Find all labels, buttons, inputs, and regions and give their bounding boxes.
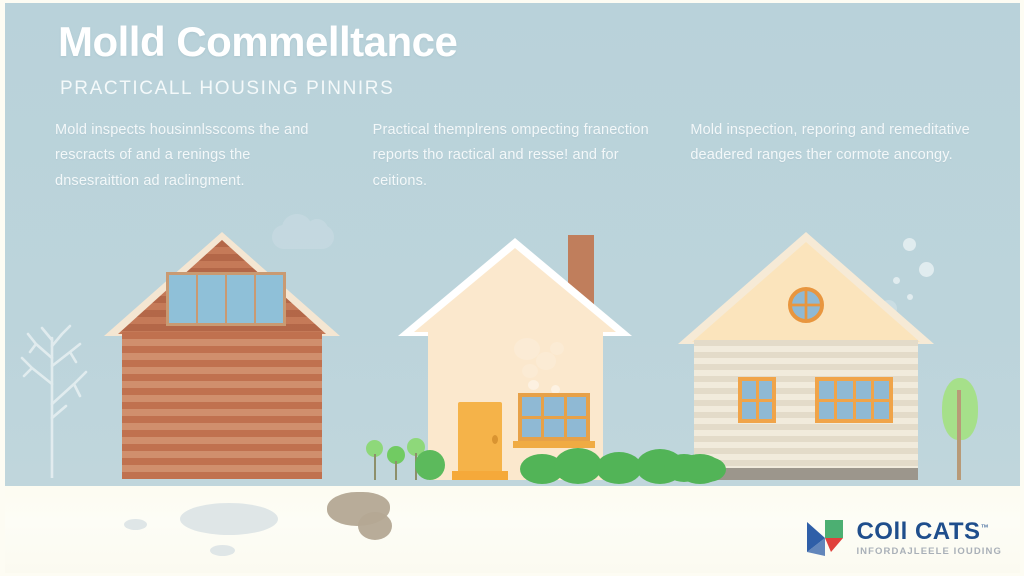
house-gable: [414, 248, 616, 332]
window-pane: [544, 419, 563, 438]
logo-tagline: INFORDAJLEELE IOUDING: [856, 547, 1002, 557]
bare-tree-silhouette: [8, 318, 94, 478]
page-subtitle: PRACTICALL HOUSING PINNIRS: [60, 78, 958, 100]
column-text: Practical themplrens ompecting franectio…: [373, 118, 653, 194]
page-title: Molld Commelltance: [58, 20, 958, 64]
mold-spot-icon: [522, 364, 538, 378]
large-window: [815, 377, 893, 423]
window-pane: [837, 402, 852, 420]
window-pane: [759, 402, 773, 420]
water-puddle: [124, 519, 147, 530]
column-text: Mold inspection, reporing and remeditati…: [690, 118, 970, 169]
six-pane-window: [518, 393, 590, 441]
hedge-row: [664, 452, 724, 482]
door-knob-icon: [492, 435, 498, 444]
window-pane: [544, 397, 563, 416]
brown-clapboard-house: [120, 232, 324, 479]
water-puddle: [180, 503, 278, 535]
poster-canvas: Molld Commelltance PRACTICALL HOUSING PI…: [0, 0, 1024, 576]
cream-house-with-door: [418, 230, 612, 480]
mold-stain: [358, 512, 392, 540]
trademark-symbol: ™: [981, 523, 990, 532]
small-lollipop-tree: [366, 440, 384, 480]
window-pane: [759, 381, 773, 399]
window-pane: [856, 402, 871, 420]
logo-name-text: COll CATS: [856, 518, 980, 545]
mold-spot-icon: [528, 380, 539, 390]
window-pane: [256, 275, 283, 323]
window-pane: [819, 402, 834, 420]
window-pane: [819, 381, 834, 399]
round-attic-window: [788, 287, 824, 323]
house-foundation: [694, 468, 918, 480]
body-column-3: Mold inspection, reporing and remeditati…: [690, 118, 970, 194]
body-column-1: Mold inspects housinnlsscoms the and res…: [55, 118, 335, 194]
window-pane: [198, 275, 227, 323]
mold-spot-icon: [550, 342, 564, 355]
mold-spot-icon: [536, 352, 556, 370]
window-pane: [856, 381, 871, 399]
window-pane: [567, 419, 586, 438]
beige-siding-house: [690, 232, 922, 480]
logo-wordmark: COll CATS™ INFORDAJLEELE IOUDING: [856, 520, 1002, 557]
water-puddle: [210, 545, 235, 556]
column-text: Mold inspects housinnlsscoms the and res…: [55, 118, 335, 194]
window-pane: [567, 397, 586, 416]
window-pane: [874, 402, 889, 420]
bush: [415, 450, 445, 480]
body-columns: Mold inspects housinnlsscoms the and res…: [55, 118, 970, 194]
house-body: [122, 332, 322, 479]
window-pane: [169, 275, 198, 323]
body-column-2: Practical themplrens ompecting franectio…: [373, 118, 653, 194]
small-window: [738, 377, 776, 423]
window-pane: [227, 275, 256, 323]
logo-name: COll CATS™: [856, 520, 1002, 544]
window-pane: [742, 381, 756, 399]
small-lollipop-tree: [387, 446, 405, 480]
wide-window: [166, 272, 286, 326]
window-pane: [522, 419, 541, 438]
window-sill: [513, 441, 595, 448]
door-step: [452, 471, 508, 480]
window-pane: [837, 381, 852, 399]
window-pane: [742, 402, 756, 420]
poster-header: Molld Commelltance PRACTICALL HOUSING PI…: [58, 20, 958, 100]
logo-mark-icon: [805, 518, 847, 558]
window-pane: [874, 381, 889, 399]
window-pane: [522, 397, 541, 416]
brand-logo[interactable]: COll CATS™ INFORDAJLEELE IOUDING: [805, 518, 1002, 558]
